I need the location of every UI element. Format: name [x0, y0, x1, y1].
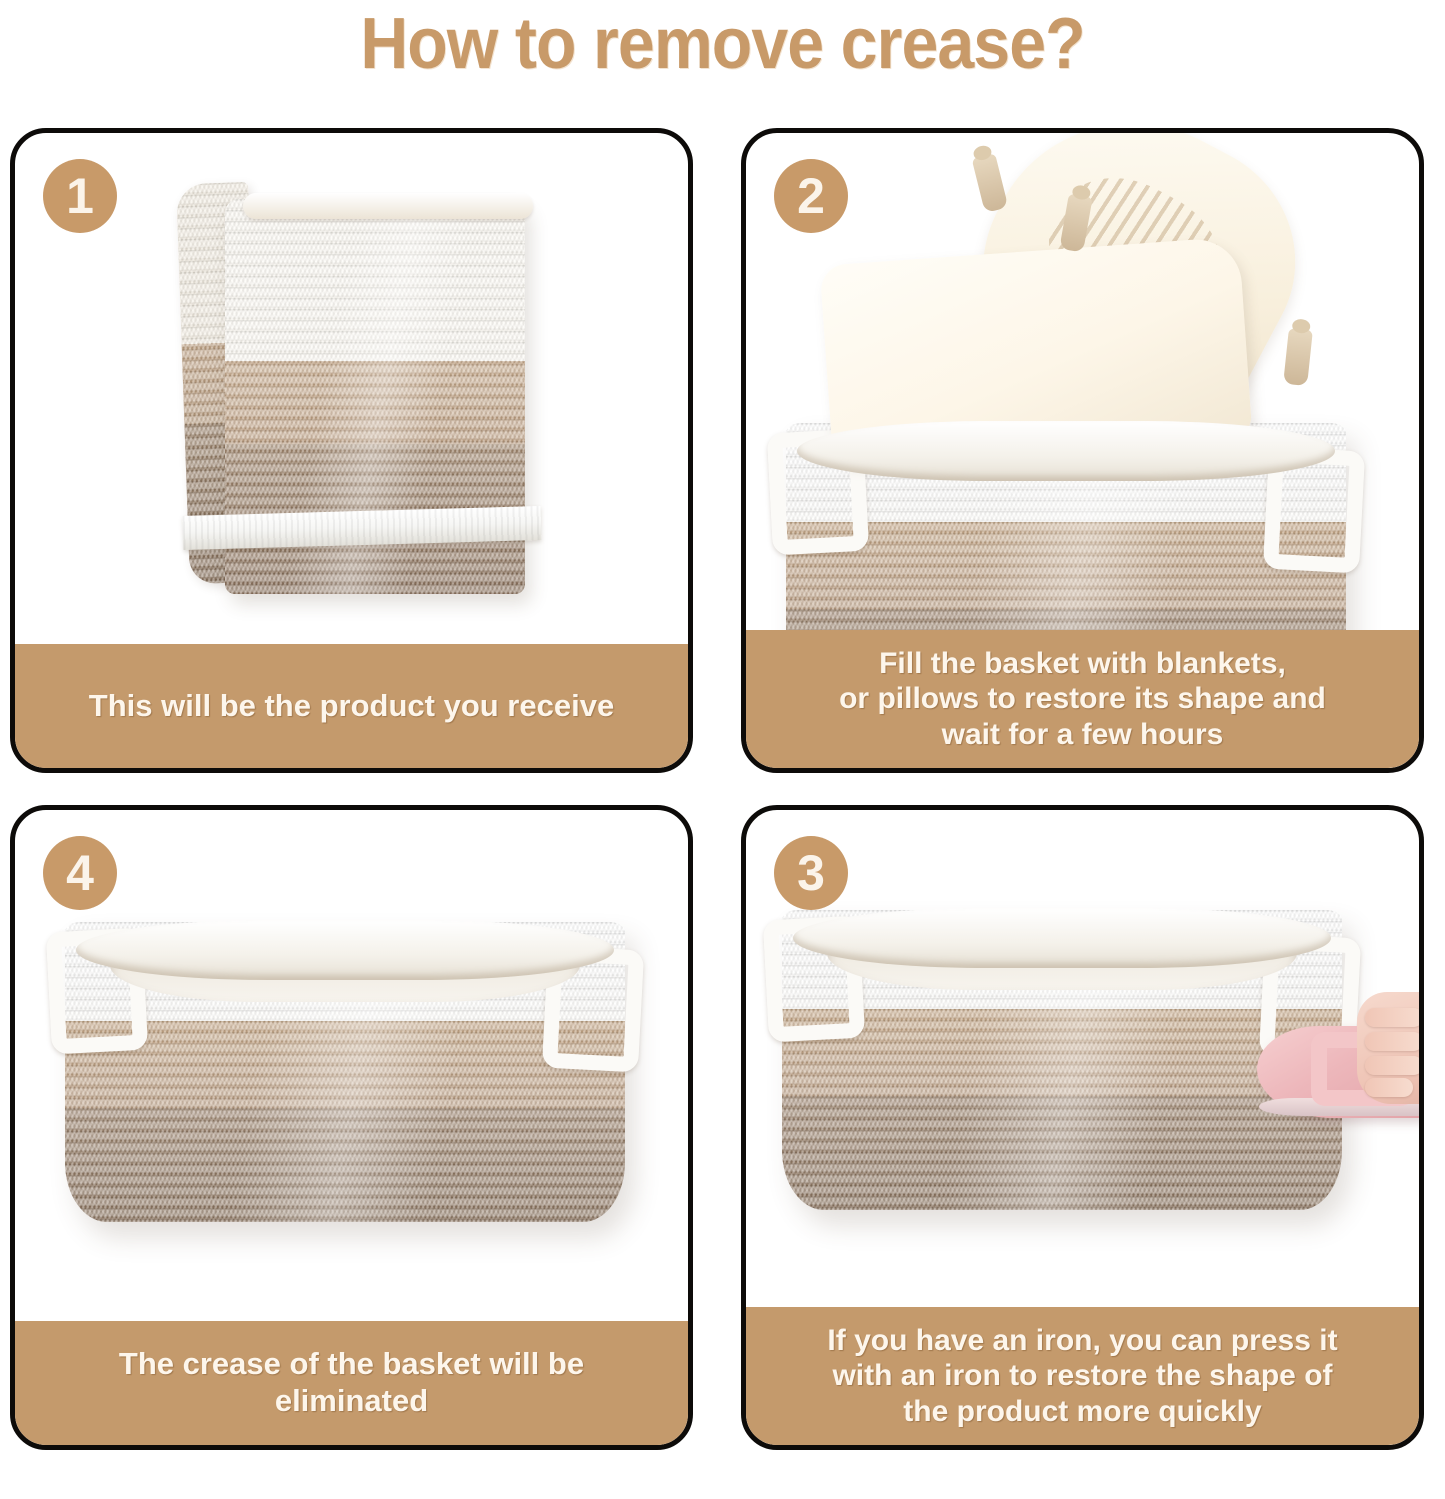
caption-line: Fill the basket with blankets, [839, 646, 1326, 681]
basket-rim [797, 421, 1335, 481]
step-badge-2: 2 [774, 159, 848, 233]
finger [1365, 1056, 1419, 1075]
step-caption-2: Fill the basket with blankets, or pillow… [746, 630, 1419, 768]
step-badge-3: 3 [774, 836, 848, 910]
caption-line: the product more quickly [827, 1394, 1337, 1429]
step-card-1: 1 This will be the product you receive [10, 128, 693, 773]
step-card-2: 2 Fill the basket with blankets, or pill… [741, 128, 1424, 773]
step-caption-3: If you have an iron, you can press it wi… [746, 1307, 1419, 1445]
page-title: How to remove crease? [58, 0, 1387, 110]
finger [1365, 1032, 1419, 1051]
steps-grid: 1 This will be the product you receive [10, 128, 1438, 1450]
step-badge-1: 1 [43, 159, 117, 233]
folded-basket-top-lip [243, 193, 533, 219]
caption-line: wait for a few hours [839, 717, 1326, 752]
caption-line: eliminated [119, 1383, 584, 1420]
caption-line: If you have an iron, you can press it [827, 1323, 1337, 1358]
step-caption-1: This will be the product you receive [15, 644, 688, 768]
tassel-icon [972, 153, 1009, 213]
pink-iron-with-hand [1257, 978, 1419, 1128]
caption-line: with an iron to restore the shape of [827, 1358, 1337, 1393]
caption-line: The crease of the basket will be [119, 1346, 584, 1383]
step-card-4: 4 The crease of the basket will be elimi… [10, 805, 693, 1450]
finger [1365, 1078, 1413, 1097]
tassel-icon [1283, 328, 1313, 386]
basket-rim [76, 920, 614, 980]
step-badge-4: 4 [43, 836, 117, 910]
basket-rim [793, 908, 1331, 968]
caption-line: or pillows to restore its shape and [839, 681, 1326, 716]
step-card-3: 3 If you have an iron, you can press it … [741, 805, 1424, 1450]
step-caption-4: The crease of the basket will be elimina… [15, 1321, 688, 1445]
rope-basket [65, 922, 625, 1222]
finger [1365, 1008, 1419, 1027]
hand-icon [1357, 992, 1419, 1104]
caption-line: This will be the product you receive [89, 688, 614, 725]
